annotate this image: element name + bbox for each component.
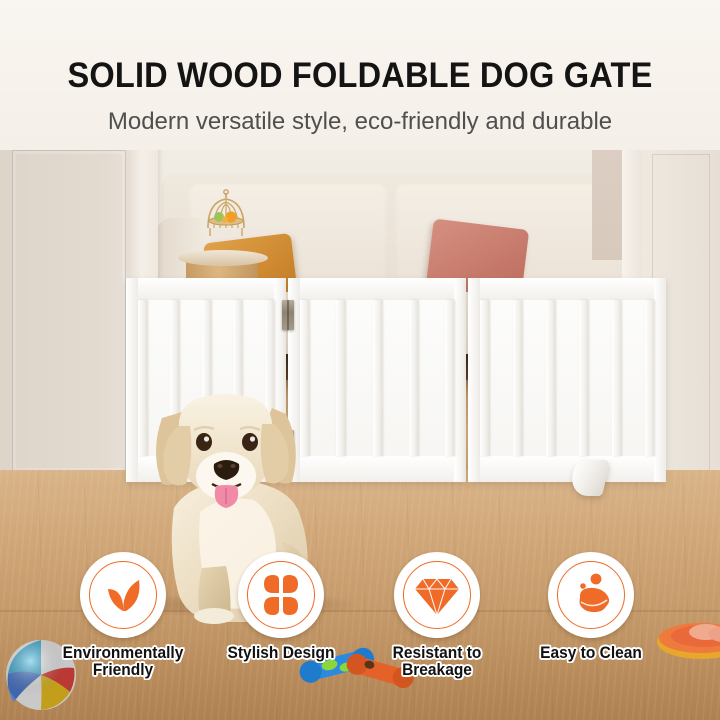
feature-badge-easy-to-clean[interactable]: Easy to Clean <box>511 552 671 662</box>
gate-stile <box>468 278 480 482</box>
banner-header: SOLID WOOD FOLDABLE DOG GATE Modern vers… <box>0 0 720 150</box>
gate-top-rail <box>468 278 666 300</box>
gate-slat <box>645 300 654 456</box>
gate-slat <box>445 300 454 456</box>
gate-stile <box>454 278 466 482</box>
birdcage-decor-icon <box>198 188 254 244</box>
feature-badge-resistant-to-breakage[interactable]: Resistant to Breakage <box>357 552 517 679</box>
gate-panel-right <box>468 278 666 482</box>
side-table-top <box>178 250 268 266</box>
gate-top-rail <box>126 278 286 300</box>
diamond-icon <box>413 573 461 617</box>
clover-icon <box>258 572 304 618</box>
feature-badge-environmentally-friendly[interactable]: Environmentally Friendly <box>43 552 203 679</box>
badge-circle <box>548 552 634 638</box>
gate-slat <box>513 300 522 456</box>
badge-label: Resistant to Breakage <box>362 645 512 679</box>
feature-badge-row: Environmentally Friendly Stylish Design <box>0 552 720 720</box>
gate-slat <box>373 300 382 456</box>
gate-slat <box>409 300 418 456</box>
feature-badge-stylish-design[interactable]: Stylish Design <box>201 552 361 662</box>
gate-bottom-rail <box>468 456 666 482</box>
gate-slat <box>480 300 489 456</box>
sponge-icon <box>567 571 615 619</box>
badge-label: Easy to Clean <box>516 645 666 662</box>
gate-slat <box>546 300 555 456</box>
gate-hinge-icon <box>282 300 294 330</box>
gate-stile <box>654 278 666 482</box>
badge-circle <box>238 552 324 638</box>
product-banner: SOLID WOOD FOLDABLE DOG GATE Modern vers… <box>0 0 720 720</box>
leaf-icon <box>99 571 147 619</box>
gate-slats <box>480 300 654 456</box>
badge-label: Environmentally Friendly <box>48 645 198 679</box>
gate-slat <box>612 300 621 456</box>
gate-slat <box>579 300 588 456</box>
page-subtitle: Modern versatile style, eco-friendly and… <box>0 108 720 136</box>
gate-top-rail <box>288 278 466 300</box>
badge-circle <box>80 552 166 638</box>
page-title: SOLID WOOD FOLDABLE DOG GATE <box>25 56 695 96</box>
badge-circle <box>394 552 480 638</box>
badge-label: Stylish Design <box>206 645 356 662</box>
